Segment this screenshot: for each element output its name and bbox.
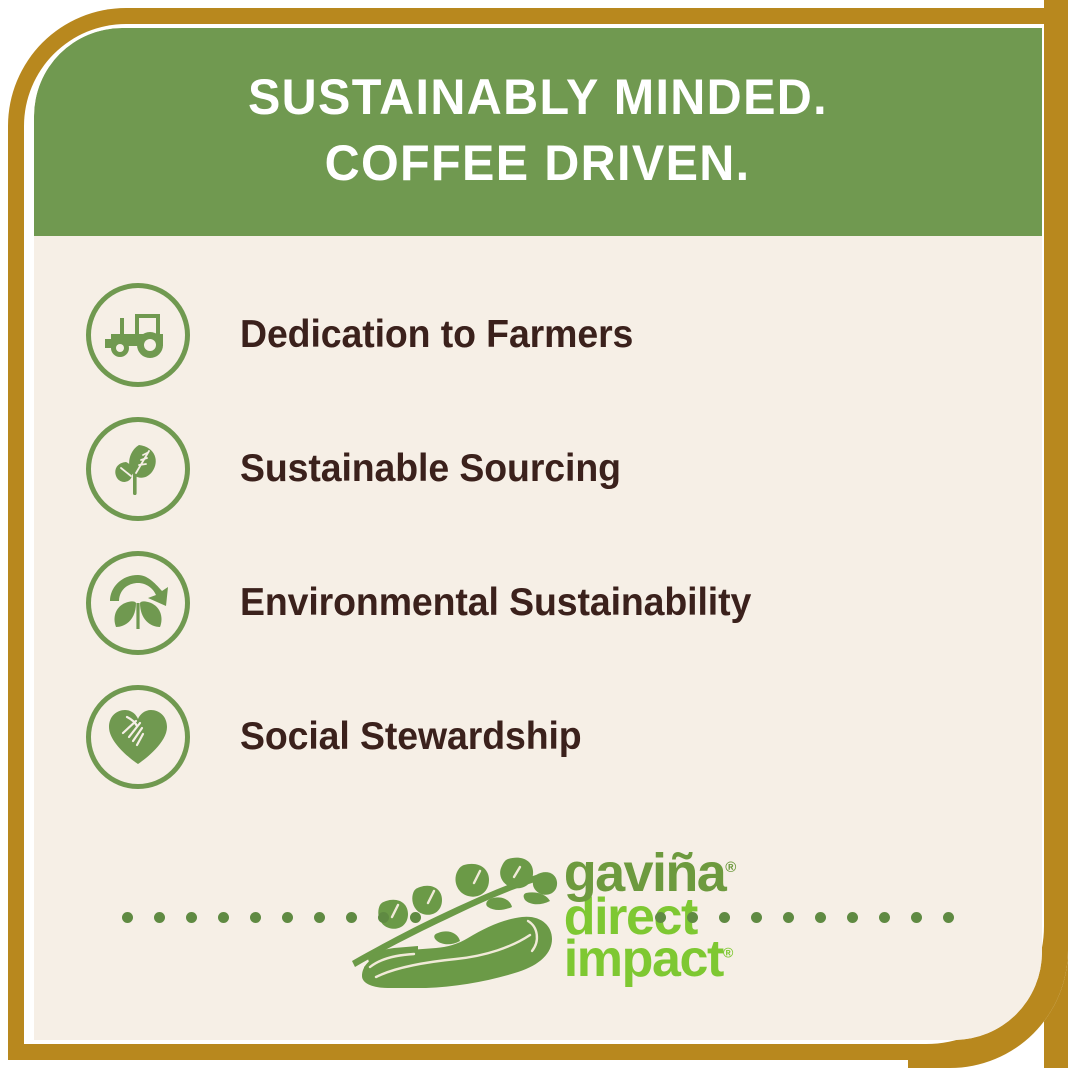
dot xyxy=(346,912,357,923)
content-card: SUSTAINABLY MINDED. COFFEE DRIVEN. xyxy=(34,28,1042,1040)
poster-root: SUSTAINABLY MINDED. COFFEE DRIVEN. xyxy=(0,0,1068,1068)
dot xyxy=(186,912,197,923)
hands-heart-icon xyxy=(86,685,190,789)
dot xyxy=(218,912,229,923)
dot xyxy=(122,912,133,923)
dot xyxy=(687,912,698,923)
decorative-dots-left xyxy=(122,912,421,923)
dot xyxy=(719,912,730,923)
feature-label: Environmental Sustainability xyxy=(240,581,751,625)
dot xyxy=(655,912,666,923)
header-title-line-1: SUSTAINABLY MINDED. xyxy=(248,64,828,130)
dot xyxy=(751,912,762,923)
registered-trademark-icon: ® xyxy=(725,859,736,876)
header-title-line-2: COFFEE DRIVEN. xyxy=(325,130,751,196)
logo-brand-name: gaviña® xyxy=(564,851,737,895)
recycle-leaf-icon xyxy=(86,551,190,655)
dot xyxy=(879,912,890,923)
dot xyxy=(410,912,421,923)
feature-label: Dedication to Farmers xyxy=(240,313,633,357)
dot xyxy=(847,912,858,923)
dot xyxy=(815,912,826,923)
dot xyxy=(250,912,261,923)
dot xyxy=(314,912,325,923)
feature-item-dedication-to-farmers: Dedication to Farmers xyxy=(34,268,1042,402)
dot xyxy=(943,912,954,923)
dot xyxy=(282,912,293,923)
feature-label: Social Stewardship xyxy=(240,715,582,759)
dot xyxy=(911,912,922,923)
sprout-leaf-icon xyxy=(86,417,190,521)
body-section: Dedication to Farmers xyxy=(34,236,1042,1040)
decorative-dots-right xyxy=(655,912,954,923)
dot xyxy=(154,912,165,923)
feature-item-environmental-sustainability: Environmental Sustainability xyxy=(34,536,1042,670)
tractor-icon xyxy=(86,283,190,387)
logo-tagline-impact: impact® xyxy=(564,938,737,981)
dot xyxy=(378,912,389,923)
feature-item-sustainable-sourcing: Sustainable Sourcing xyxy=(34,402,1042,536)
feature-list: Dedication to Farmers xyxy=(34,268,1042,804)
footer-logo-section: gaviña® direct impact® xyxy=(34,816,1042,1016)
feature-item-social-stewardship: Social Stewardship xyxy=(34,670,1042,804)
header-banner: SUSTAINABLY MINDED. COFFEE DRIVEN. xyxy=(34,28,1042,236)
registered-trademark-icon: ® xyxy=(723,945,733,961)
dot xyxy=(783,912,794,923)
feature-label: Sustainable Sourcing xyxy=(240,447,621,491)
